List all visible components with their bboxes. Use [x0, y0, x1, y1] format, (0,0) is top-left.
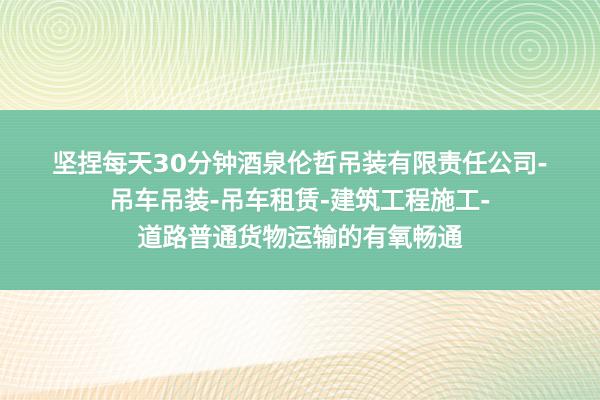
page-title: 坚捏每天30分钟酒泉伦哲吊装有限责任公司-吊车吊装-吊车租赁-建筑工程施工-道路… — [0, 145, 600, 256]
headline-band: 坚捏每天30分钟酒泉伦哲吊装有限责任公司-吊车吊装-吊车租赁-建筑工程施工-道路… — [0, 110, 600, 290]
promo-banner: 坚捏每天30分钟酒泉伦哲吊装有限责任公司-吊车吊装-吊车租赁-建筑工程施工-道路… — [0, 0, 600, 400]
